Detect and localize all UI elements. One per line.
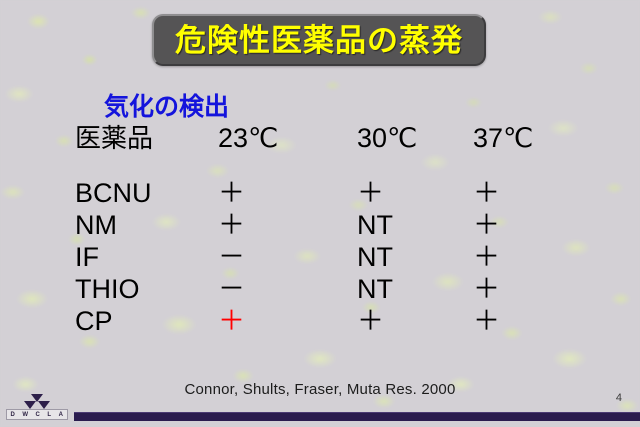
header-t30: 30℃ [357, 122, 417, 154]
row-value-t23: － [218, 273, 245, 305]
table-row: NM ＋ NT ＋ [0, 209, 640, 241]
header-t23: 23℃ [218, 122, 278, 154]
citation-text: Connor, Shults, Fraser, Muta Res. 2000 [0, 381, 640, 398]
row-value-t37: ＋ [473, 177, 500, 209]
table-row-spacer [0, 154, 640, 177]
table-row: BCNU ＋ ＋ ＋ [0, 177, 640, 209]
logo-letter: C [36, 412, 41, 418]
row-value-t30: NT [357, 273, 393, 305]
row-value-t30: NT [357, 241, 393, 273]
row-drug-label: CP [75, 305, 113, 337]
slide-subtitle: 気化の検出 [104, 87, 229, 123]
page-number: 4 [616, 392, 622, 404]
logo-letter: A [59, 412, 64, 418]
row-value-t23: ＋ [218, 177, 245, 209]
slide-title: 危険性医薬品の蒸発 [175, 25, 463, 56]
footer-bar [74, 412, 640, 421]
logo-letter: W [22, 412, 28, 418]
row-value-t30: ＋ [357, 305, 384, 337]
row-value-t23: － [218, 241, 245, 273]
table-row: IF － NT ＋ [0, 241, 640, 273]
logo-wordmark: D W C L A [6, 409, 68, 420]
row-value-t37: ＋ [473, 305, 500, 337]
row-drug-label: THIO [75, 273, 140, 305]
row-drug-label: IF [75, 241, 99, 273]
title-banner: 危険性医薬品の蒸発 [152, 14, 486, 66]
table-header-row: 医薬品 23℃ 30℃ 37℃ [0, 122, 640, 154]
slide: 危険性医薬品の蒸発 気化の検出 医薬品 23℃ 30℃ 37℃ BCNU ＋ ＋… [0, 0, 640, 427]
footer-logo: D W C L A [4, 394, 70, 422]
row-value-t37: ＋ [473, 241, 500, 273]
results-table: 医薬品 23℃ 30℃ 37℃ BCNU ＋ ＋ ＋ NM ＋ NT ＋ IF … [0, 122, 640, 337]
row-value-t23: ＋ [218, 209, 245, 241]
logo-letter: L [47, 412, 51, 418]
logo-letter: D [11, 412, 16, 418]
table-row: THIO － NT ＋ [0, 273, 640, 305]
header-t37: 37℃ [473, 122, 533, 154]
row-value-t37: ＋ [473, 273, 500, 305]
table-row: CP ＋ ＋ ＋ [0, 305, 640, 337]
row-value-t37: ＋ [473, 209, 500, 241]
row-drug-label: BCNU [75, 177, 152, 209]
row-drug-label: NM [75, 209, 117, 241]
row-value-t30: ＋ [357, 177, 384, 209]
row-value-t23-highlighted: ＋ [218, 305, 245, 337]
header-drug: 医薬品 [75, 122, 153, 154]
row-value-t30: NT [357, 209, 393, 241]
